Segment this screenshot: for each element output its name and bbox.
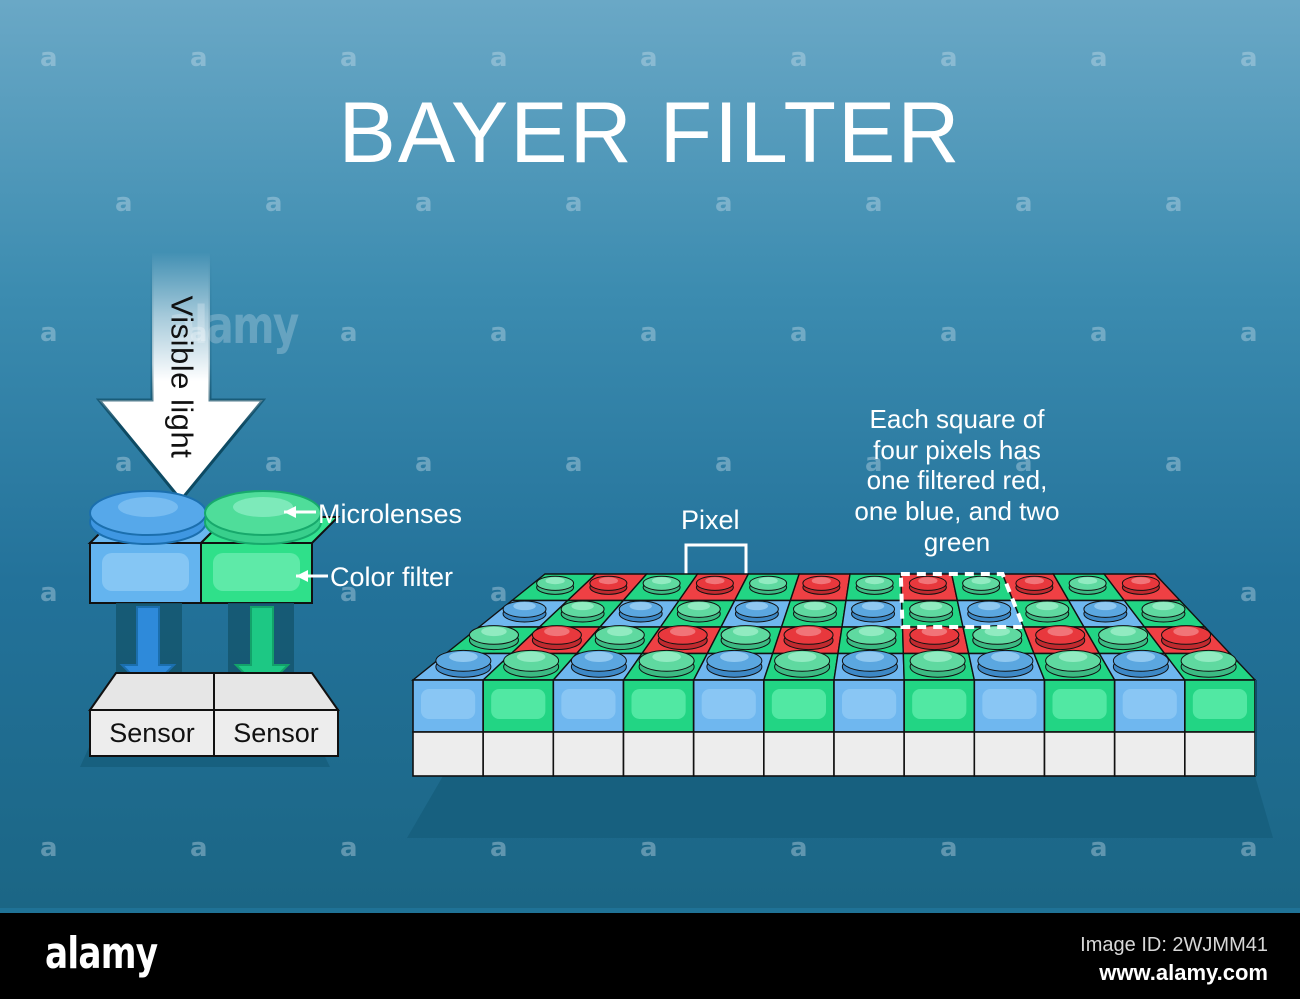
- watermark-glyph: a: [1090, 45, 1108, 71]
- microlens-dome: [852, 601, 895, 622]
- watermark-glyph: a: [40, 835, 58, 861]
- illustration-canvas: aaaaaaaaaaaaaaaaaaaaaaaaaaaaaaaaaaaaaaaa…: [0, 0, 1300, 908]
- microlens-dome: [643, 576, 680, 594]
- front-sensor-block: [764, 732, 834, 776]
- front-sensor-block: [1045, 732, 1115, 776]
- microlens-dome: [784, 626, 833, 650]
- watermark-glyph: a: [1240, 45, 1258, 71]
- watermark-glyph: a: [1165, 450, 1183, 476]
- watermark-glyph: a: [865, 190, 883, 216]
- front-sensor-block: [904, 732, 974, 776]
- sensor-label-right: Sensor: [233, 718, 319, 748]
- watermark-glyph: a: [415, 450, 433, 476]
- watermark-glyph: a: [790, 45, 808, 71]
- microlens-dome: [469, 626, 518, 650]
- microlens-dome: [1113, 650, 1168, 677]
- grid-shadow: [407, 776, 1273, 838]
- microlens-dome: [973, 626, 1022, 650]
- label-pixel: Pixel: [681, 505, 740, 536]
- microlens-dome: [1099, 626, 1148, 650]
- microlens-dome: [619, 601, 662, 622]
- label-microlenses: Microlenses: [318, 499, 462, 530]
- screenshot-root: aaaaaaaaaaaaaaaaaaaaaaaaaaaaaaaaaaaaaaaa…: [0, 0, 1300, 999]
- microlens-dome: [1142, 601, 1185, 622]
- microlens-dome: [537, 576, 574, 594]
- watermark-glyph: a: [790, 320, 808, 346]
- watermark-glyph: a: [565, 450, 583, 476]
- microlens-dome: [1069, 576, 1106, 594]
- watermark-glyph: a: [490, 320, 508, 346]
- microlens-dome: [504, 650, 559, 677]
- watermark-glyph: a: [490, 835, 508, 861]
- watermark-glyph: a: [940, 45, 958, 71]
- front-sensor-block: [974, 732, 1044, 776]
- alamy-footer-bar: alamy Image ID: 2WJMM41 www.alamy.com: [0, 908, 1300, 999]
- watermark-glyph: a: [40, 45, 58, 71]
- microlens-dome: [503, 601, 546, 622]
- watermark-glyph: a: [340, 45, 358, 71]
- front-sensor-block: [1115, 732, 1185, 776]
- microlens-dome: [658, 626, 707, 650]
- microlens-dome: [963, 576, 1000, 594]
- microlens-dome: [735, 601, 778, 622]
- watermark-glyph: a: [640, 320, 658, 346]
- microlens-dome: [532, 626, 581, 650]
- watermark-glyph: a: [115, 190, 133, 216]
- watermark-glyph: a: [340, 835, 358, 861]
- front-sensor-block: [413, 732, 483, 776]
- watermark-glyph: a: [1165, 190, 1183, 216]
- microlens-dome: [707, 650, 762, 677]
- watermark-glyph: a: [790, 835, 808, 861]
- microlens-dome: [1026, 601, 1069, 622]
- microlens-dome: [571, 650, 626, 677]
- watermark-glyph: a: [940, 320, 958, 346]
- microlens-dome: [1036, 626, 1085, 650]
- watermark-glyph: a: [490, 45, 508, 71]
- front-sensor-block: [1185, 732, 1255, 776]
- microlens-dome: [910, 601, 953, 622]
- microlens-dome: [1122, 576, 1159, 594]
- microlens-dome: [1181, 650, 1236, 677]
- microlens-dome: [856, 576, 893, 594]
- microlens-dome: [721, 626, 770, 650]
- watermark-glyph: a: [640, 835, 658, 861]
- watermark-glyph: a: [1015, 190, 1033, 216]
- bayer-explanation-note: Each square of four pixels has one filte…: [852, 404, 1062, 557]
- sensor-label-left: Sensor: [109, 718, 195, 748]
- front-sensor-block: [553, 732, 623, 776]
- microlens-dome: [793, 601, 836, 622]
- watermark-glyph: a: [715, 190, 733, 216]
- watermark-glyph: a: [265, 450, 283, 476]
- watermark-glyph: a: [1090, 320, 1108, 346]
- microlens-dome: [803, 576, 840, 594]
- microlens-dome: [561, 601, 604, 622]
- grid-front-faces: [407, 680, 1273, 838]
- watermark-glyph: a: [415, 190, 433, 216]
- microlens-dome: [1084, 601, 1127, 622]
- microlens-dome: [1046, 650, 1101, 677]
- microlens-dome: [639, 650, 694, 677]
- microlens-dome: [436, 650, 491, 677]
- watermark-glyph: a: [190, 835, 208, 861]
- watermark-glyph: a: [1240, 320, 1258, 346]
- page-title: BAYER FILTER: [0, 84, 1300, 183]
- microlens-dome: [590, 576, 627, 594]
- microlens-dome: [750, 576, 787, 594]
- front-sensor-block: [624, 732, 694, 776]
- bayer-sensor-array: [395, 548, 1265, 813]
- microlens-dome: [968, 601, 1011, 622]
- image-id-text: Image ID: 2WJMM41: [1080, 934, 1268, 957]
- microlens-dome: [696, 576, 733, 594]
- front-sensor-block: [834, 732, 904, 776]
- watermark-glyph: a: [40, 580, 58, 606]
- watermark-glyph: a: [1090, 835, 1108, 861]
- watermark-glyph: a: [940, 835, 958, 861]
- microlens-dome: [910, 626, 959, 650]
- alamy-logo: alamy: [45, 932, 157, 976]
- watermark-glyph: a: [1240, 835, 1258, 861]
- microlens-dome: [677, 601, 720, 622]
- microlens-dome: [842, 650, 897, 677]
- watermark-glyph: a: [565, 190, 583, 216]
- watermark-glyph: a: [190, 45, 208, 71]
- microlens-dome: [910, 650, 965, 677]
- microlens-dome: [1016, 576, 1053, 594]
- watermark-glyph: a: [40, 320, 58, 346]
- visible-light-arrow: Visible light: [96, 252, 266, 502]
- microlens-dome: [847, 626, 896, 650]
- microlens-dome: [978, 650, 1033, 677]
- microlens-dome: [595, 626, 644, 650]
- watermark-glyph: a: [715, 450, 733, 476]
- footer-divider: [0, 908, 1300, 913]
- watermark-glyph: a: [640, 45, 658, 71]
- watermark-glyph: a: [340, 320, 358, 346]
- front-sensor-block: [694, 732, 764, 776]
- microlens-dome: [1162, 626, 1211, 650]
- watermark-glyph: a: [265, 190, 283, 216]
- microlens-dome: [775, 650, 830, 677]
- front-sensor-block: [483, 732, 553, 776]
- website-text: www.alamy.com: [1099, 960, 1268, 986]
- microlens-dome: [909, 576, 946, 594]
